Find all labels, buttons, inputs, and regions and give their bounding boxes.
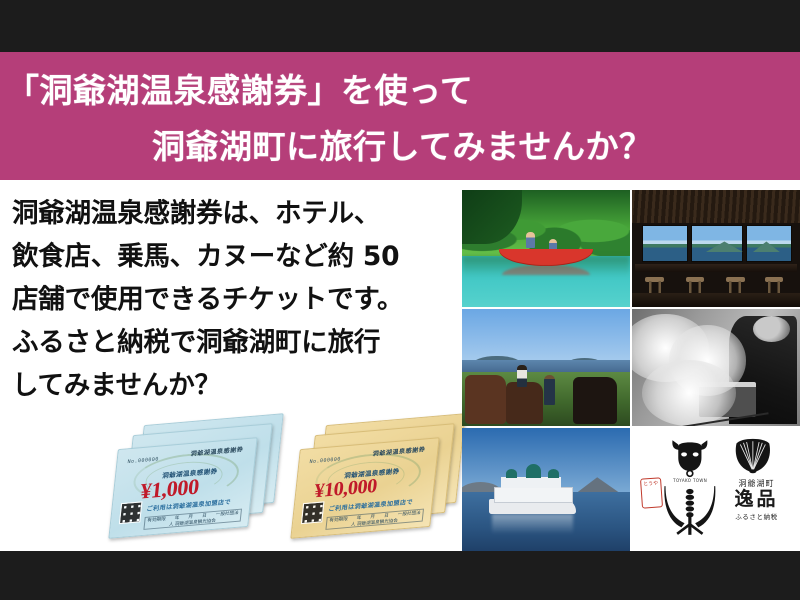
window-left (642, 225, 688, 262)
ticket-amount: ¥1,000 (139, 476, 200, 503)
presentation-slide: 「洞爺湖温泉感謝券」を使って 洞爺湖町に旅行してみませんか？ 洞爺湖温泉感謝券は… (0, 0, 800, 600)
logo-ippin: 逸品 (723, 489, 789, 511)
slide-card: 「洞爺湖温泉感謝券」を使って 洞爺湖町に旅行してみませんか？ 洞爺湖温泉感謝券は… (0, 52, 800, 551)
ship-reflection (492, 514, 573, 534)
headline-line-2: 洞爺湖町に旅行してみませんか？ (152, 130, 653, 163)
photo-grid: とうや TOYAKO TOWN 洞爺湖町 逸品 ふるさと納税 (462, 190, 800, 551)
horse-rider (517, 365, 527, 387)
wooden-floor (632, 293, 800, 307)
body-line-5: してみませんか？ (12, 364, 460, 407)
logo-inner: とうや TOYAKO TOWN 洞爺湖町 逸品 ふるさと納税 (638, 432, 796, 547)
ticket-stack-1000: No.000000 洞爺湖温泉感謝券 洞爺湖温泉感謝券 ¥1,000 ご利用は洞… (110, 417, 280, 542)
qr-code-icon (301, 501, 325, 524)
body-line-2: 飲食店、乗馬、カヌーなど約 50 (12, 235, 460, 278)
ticket-stack-10000: No.000000 洞爺湖温泉感謝券 洞爺湖温泉感謝券 ¥10,000 ご利用は… (292, 417, 462, 542)
photo-steam-kitchen-bw (632, 309, 800, 426)
qr-code-icon (119, 501, 143, 524)
guide-person (544, 375, 555, 405)
body-line-4: ふるさと納税で洞爺湖町に旅行 (12, 321, 460, 364)
bench (635, 264, 796, 272)
letterbox-top (0, 0, 800, 52)
body-line-3: 店舗で使用できるチケットです。 (12, 278, 460, 321)
ship-deck-lower (494, 487, 573, 503)
toya-stamp-icon: とうや (640, 477, 663, 508)
ticket-amount: ¥10,000 (313, 476, 377, 501)
ticket-front-10000: No.000000 洞爺湖温泉感謝券 洞爺湖温泉感謝券 ¥10,000 ご利用は… (290, 437, 439, 539)
photo-horseback-riding (462, 309, 630, 426)
steam-cloud (642, 360, 736, 426)
cow-icon (663, 437, 717, 478)
ship-deck-upper (501, 477, 561, 488)
header-band: 「洞爺湖温泉感謝券」を使って 洞爺湖町に旅行してみませんか？ (0, 52, 800, 180)
horse-dark-brown (506, 382, 543, 424)
horse-brown (465, 375, 505, 424)
photo-lakeview-room (632, 190, 800, 307)
ship-turret (548, 469, 560, 479)
letterbox-bottom (0, 551, 800, 600)
ship-turret (506, 469, 518, 479)
body-text-block: 洞爺湖温泉感謝券は、ホテル、 飲食店、乗馬、カヌーなど約 50 店舗で使用できる… (12, 192, 460, 407)
ship-turret (526, 464, 541, 479)
horse-black (573, 377, 617, 424)
ticket-photos: No.000000 洞爺湖温泉感謝券 洞爺湖温泉感謝券 ¥1,000 ご利用は洞… (100, 417, 460, 551)
wooden-ceiling (632, 190, 800, 223)
canoe-person-front (526, 232, 535, 248)
scallop-shell-icon (726, 435, 780, 474)
ticket-front-1000: No.000000 洞爺湖温泉感謝券 洞爺湖温泉感謝券 ¥1,000 ご利用は洞… (108, 437, 257, 539)
photo-cruise-ship (462, 428, 630, 551)
logo-furusato-nozei: ふるさと納税 (723, 511, 789, 521)
town-roman-label: TOYAKO TOWN (663, 478, 717, 483)
window-center (691, 225, 743, 262)
body-line-1: 洞爺湖温泉感謝券は、ホテル、 (12, 192, 460, 235)
logo-text-block: 洞爺湖町 逸品 ふるさと納税 (723, 478, 789, 521)
rice-ear-icon (663, 483, 717, 536)
headline-line-1: 「洞爺湖温泉感謝券」を使って (6, 74, 473, 107)
photo-canoe-lake (462, 190, 630, 307)
chef-head (753, 316, 790, 342)
logo-panel: とうや TOYAKO TOWN 洞爺湖町 逸品 ふるさと納税 (632, 428, 800, 551)
